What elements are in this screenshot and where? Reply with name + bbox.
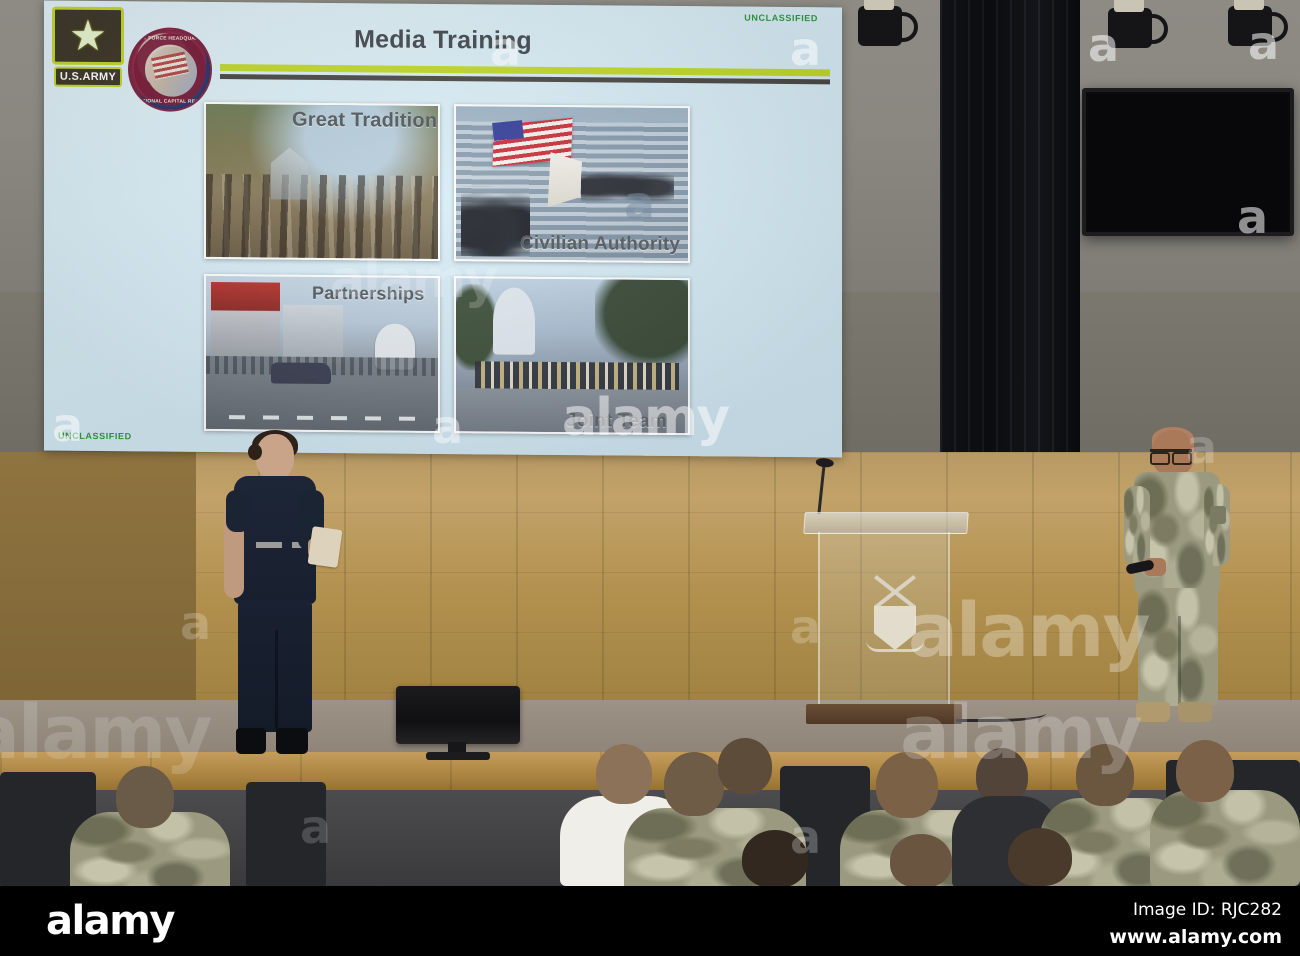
guidon-flag	[547, 152, 582, 209]
airman-left-arm	[1124, 486, 1150, 566]
marching-band	[475, 361, 679, 390]
stage-light-icon	[1108, 8, 1152, 48]
photograph: UNCLASSIFIED ★ U.S.ARMY JOINT FORCE HEAD…	[0, 0, 1300, 886]
presenter-notes	[308, 526, 343, 568]
service-member-camouflage	[1122, 430, 1230, 730]
stage-light-icon	[858, 6, 902, 46]
audience-head	[890, 834, 952, 886]
audience-head	[876, 752, 938, 818]
caption-civilian-authority: Civilian Authority	[520, 233, 680, 256]
motorcade-vehicle	[271, 362, 331, 384]
crest-scroll	[866, 640, 924, 652]
lectern-podium	[806, 512, 966, 724]
projection-screen: UNCLASSIFIED ★ U.S.ARMY JOINT FORCE HEAD…	[44, 1, 842, 458]
slide-rule-dark	[220, 74, 830, 84]
flag-union	[492, 120, 524, 141]
audience-member	[1150, 790, 1300, 886]
caption-joint-team: Joint Team	[566, 410, 667, 433]
building-center	[283, 304, 343, 363]
audience-head	[596, 744, 652, 804]
glasses-icon	[1150, 449, 1192, 458]
podium-top-surface	[803, 512, 969, 534]
auditorium-seat	[246, 782, 326, 886]
audience-head	[1008, 828, 1072, 886]
wall-mounted-television	[1082, 88, 1294, 236]
airman-trousers	[1138, 588, 1218, 706]
podium-acrylic-panel	[818, 532, 950, 710]
presenter-left-sleeve	[226, 490, 250, 532]
audience-seating	[0, 700, 1300, 886]
trees-right	[595, 279, 688, 365]
army-logo-label: U.S.ARMY	[54, 67, 122, 88]
audience-head	[116, 766, 174, 828]
caption-partnerships: Partnerships	[312, 283, 424, 305]
image-id-label: Image ID: RJC282	[1133, 900, 1282, 920]
nametape-left	[256, 542, 282, 548]
classification-marking-bottom: UNCLASSIFIED	[58, 431, 132, 442]
alamy-logo: alamy	[46, 898, 174, 944]
seal-center-emblem	[147, 46, 197, 96]
wood-panel-wall-left	[0, 452, 196, 710]
shoulder-patch	[1210, 506, 1226, 524]
classification-marking-top: UNCLASSIFIED	[744, 13, 818, 24]
audience-head	[1076, 744, 1134, 806]
capitol-dome	[493, 288, 535, 356]
audience-head	[664, 752, 724, 816]
presenter-hair-bun	[248, 444, 262, 460]
officials-group	[581, 159, 674, 206]
seal-text-bottom: NATIONAL CAPITAL REGION	[130, 98, 212, 105]
audience-head	[1176, 740, 1234, 802]
alamy-url[interactable]: www.alamy.com	[1109, 926, 1282, 948]
audience-head	[742, 830, 808, 886]
presenter-head	[256, 434, 294, 480]
alamy-footer-bar: alamy Image ID: RJC282 www.alamy.com	[0, 886, 1300, 956]
airman-right-arm	[1204, 484, 1230, 566]
building-left	[211, 282, 281, 362]
television-screen	[1088, 94, 1288, 230]
presentation-slide: UNCLASSIFIED ★ U.S.ARMY JOINT FORCE HEAD…	[44, 1, 842, 458]
caption-great-tradition: Great Tradition	[292, 109, 437, 133]
trees-left	[456, 284, 498, 370]
unit-crest-icon	[864, 584, 926, 656]
audience-head	[718, 738, 772, 794]
stage-light-icon	[1228, 6, 1272, 46]
